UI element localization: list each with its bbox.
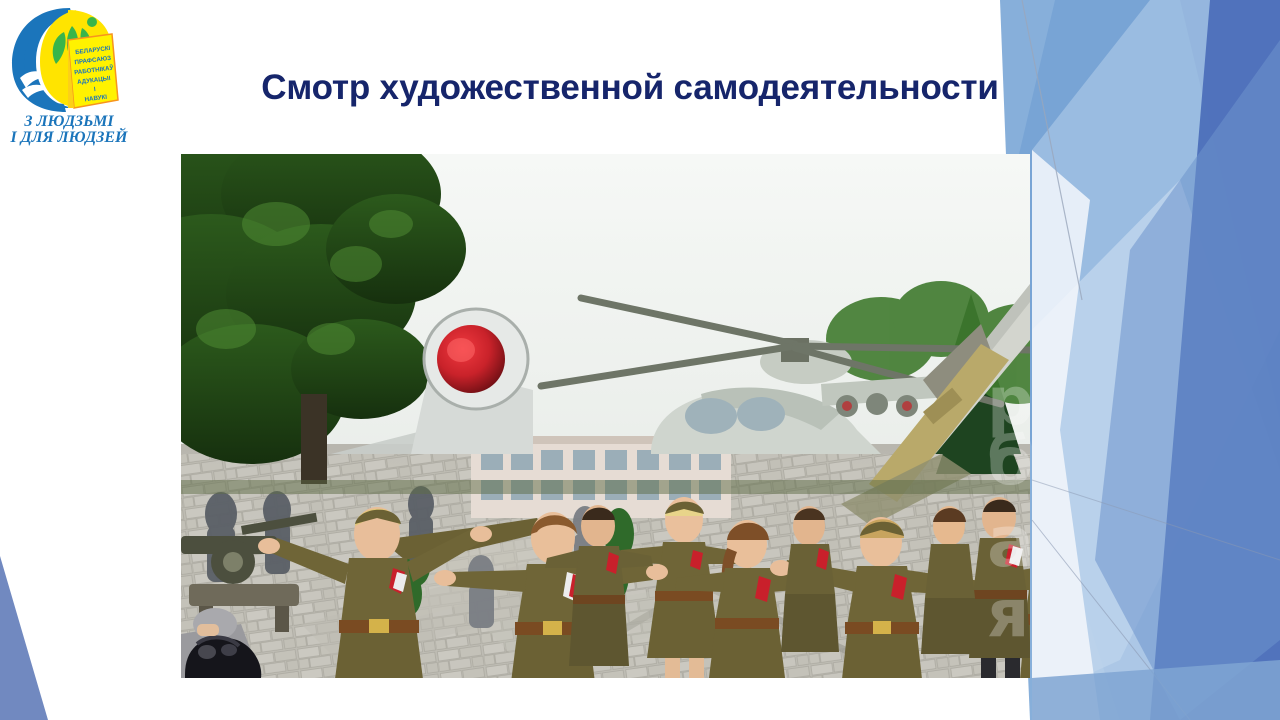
photograph-artwork: р б а я (181, 154, 1030, 678)
deco-shape-right-accent (1095, 40, 1280, 720)
svg-text:б: б (987, 423, 1030, 500)
svg-text:я: я (987, 575, 1029, 652)
logo-seed-dot (87, 17, 97, 27)
performance-photograph: р б а я (181, 154, 1030, 678)
performer-1-torso (341, 558, 417, 624)
svg-text:а: а (987, 501, 1030, 583)
deco-shape-right-dark (1160, 0, 1280, 720)
deco-shape-right-palest (1032, 180, 1280, 720)
deco-hairline-2 (1032, 520, 1190, 720)
deco-shape-right-white-wedge (1032, 150, 1100, 720)
logo-slogan-line2: І ДЛЯ ЛЮДЗЕЙ (9, 127, 128, 146)
deco-shape-right-deepblue (1150, 0, 1280, 720)
deco-hairline-1 (1022, 0, 1082, 300)
logo-slogan: З ЛЮДЗЬМІ З ЛЮДЗЬМІ І ДЛЯ ЛЮДЗЕЙ І ДЛЯ Л… (9, 113, 128, 146)
slide-title: Смотр художественной самодеятельности (150, 66, 1110, 110)
deco-shape-bottom-right (1032, 660, 1280, 720)
performer-1-skirt (331, 633, 427, 678)
logo-artwork: БЕЛАРУСКІ ПРАФСАЮЗ РАБОТНІКАЎ АДУКАЦЫІ І… (6, 4, 132, 146)
bench-left (189, 584, 299, 606)
slide-canvas: БЕЛАРУСКІ ПРАФСАЮЗ РАБОТНІКАЎ АДУКАЦЫІ І… (0, 0, 1280, 720)
organization-logo: БЕЛАРУСКІ ПРАФСАЮЗ РАБОТНІКАЎ АДУКАЦЫІ І… (6, 4, 132, 146)
aircraft-nose-cone-red (437, 325, 505, 393)
tree-trunk (301, 394, 327, 484)
deco-shape-bottom-left (0, 556, 48, 720)
deco-hairline-3 (1032, 480, 1280, 560)
logo-slogan-line1: З ЛЮДЗЬМІ (23, 113, 114, 130)
photo-watermark: р б а я (987, 363, 1030, 652)
